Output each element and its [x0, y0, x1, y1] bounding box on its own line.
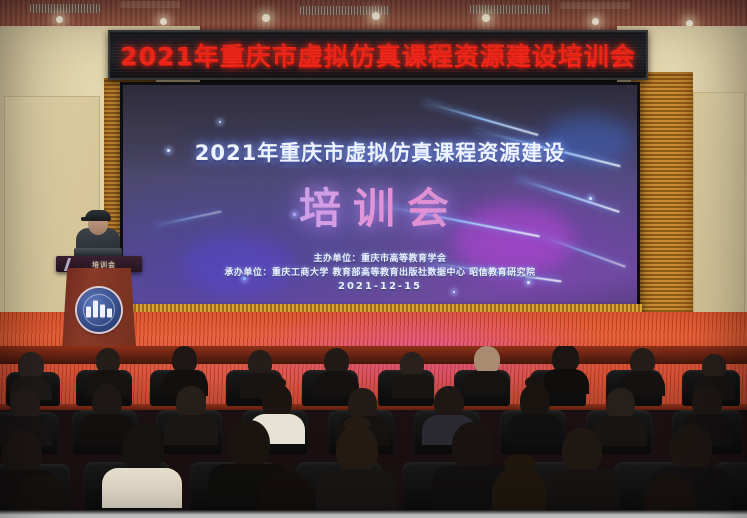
- person-shoulders: [544, 469, 620, 509]
- person-shoulders: [507, 414, 563, 444]
- ceiling-light: [372, 12, 380, 20]
- ceiling-light: [56, 16, 63, 23]
- person-head: [122, 424, 164, 472]
- person-shoulders: [464, 371, 510, 395]
- screen-host-label: 主办单位：重庆市高等教育学会: [123, 251, 637, 264]
- wall-panel-right: [693, 92, 745, 342]
- person-shoulders: [392, 374, 434, 398]
- person-head: [520, 384, 550, 418]
- photo-bottom-edge: [0, 510, 747, 518]
- audience-area: [0, 346, 747, 518]
- screen-title: 2021年重庆市虚拟仿真课程资源建设: [123, 137, 637, 167]
- person-shoulders: [316, 469, 396, 509]
- person-shoulders: [541, 369, 589, 394]
- screen-cohost-label: 承办单位：重庆工商大学 教育部高等教育出版社数据中心 昭信教育研究院: [123, 265, 637, 278]
- emblem-bars-icon: [86, 300, 112, 317]
- screen-date: 2021-12-15: [123, 281, 637, 292]
- conference-hall-photo: 2021年重庆市虚拟仿真课程资源建设培训会 2021年重庆市虚拟仿真课程资源建设…: [0, 0, 747, 518]
- person-shoulders: [164, 415, 218, 445]
- person-head: [2, 430, 42, 474]
- person-head: [670, 424, 712, 471]
- ceiling-light: [592, 18, 599, 25]
- person-head: [452, 422, 494, 470]
- person-head: [474, 346, 500, 374]
- ceiling-light: [482, 14, 490, 22]
- podium-plate-text: 培训会: [86, 261, 122, 269]
- ceiling-vent: [30, 4, 100, 13]
- person-head: [92, 384, 122, 418]
- ceiling-vent: [470, 5, 550, 14]
- led-banner-text: 2021年重庆市虚拟仿真课程资源建设培训会: [110, 37, 646, 73]
- person-head: [262, 384, 292, 418]
- ceiling-panel: [120, 1, 180, 8]
- university-emblem: [77, 288, 121, 332]
- screen-subtitle: 培训会: [123, 175, 637, 236]
- person-head: [562, 428, 602, 473]
- speaker-cap: [85, 210, 111, 221]
- ceiling-panel: [560, 2, 630, 9]
- projection-screen: 2021年重庆市虚拟仿真课程资源建设 培训会 主办单位：重庆市高等教育学会 承办…: [120, 82, 640, 310]
- star-dot: [219, 121, 221, 123]
- led-banner: 2021年重庆市虚拟仿真课程资源建设培训会: [108, 30, 648, 80]
- ceiling-light: [262, 14, 270, 22]
- person-head: [228, 420, 270, 468]
- person-head: [336, 426, 378, 473]
- person-shoulders: [594, 416, 647, 446]
- person-shoulders: [102, 468, 182, 508]
- ceiling-light: [160, 18, 167, 25]
